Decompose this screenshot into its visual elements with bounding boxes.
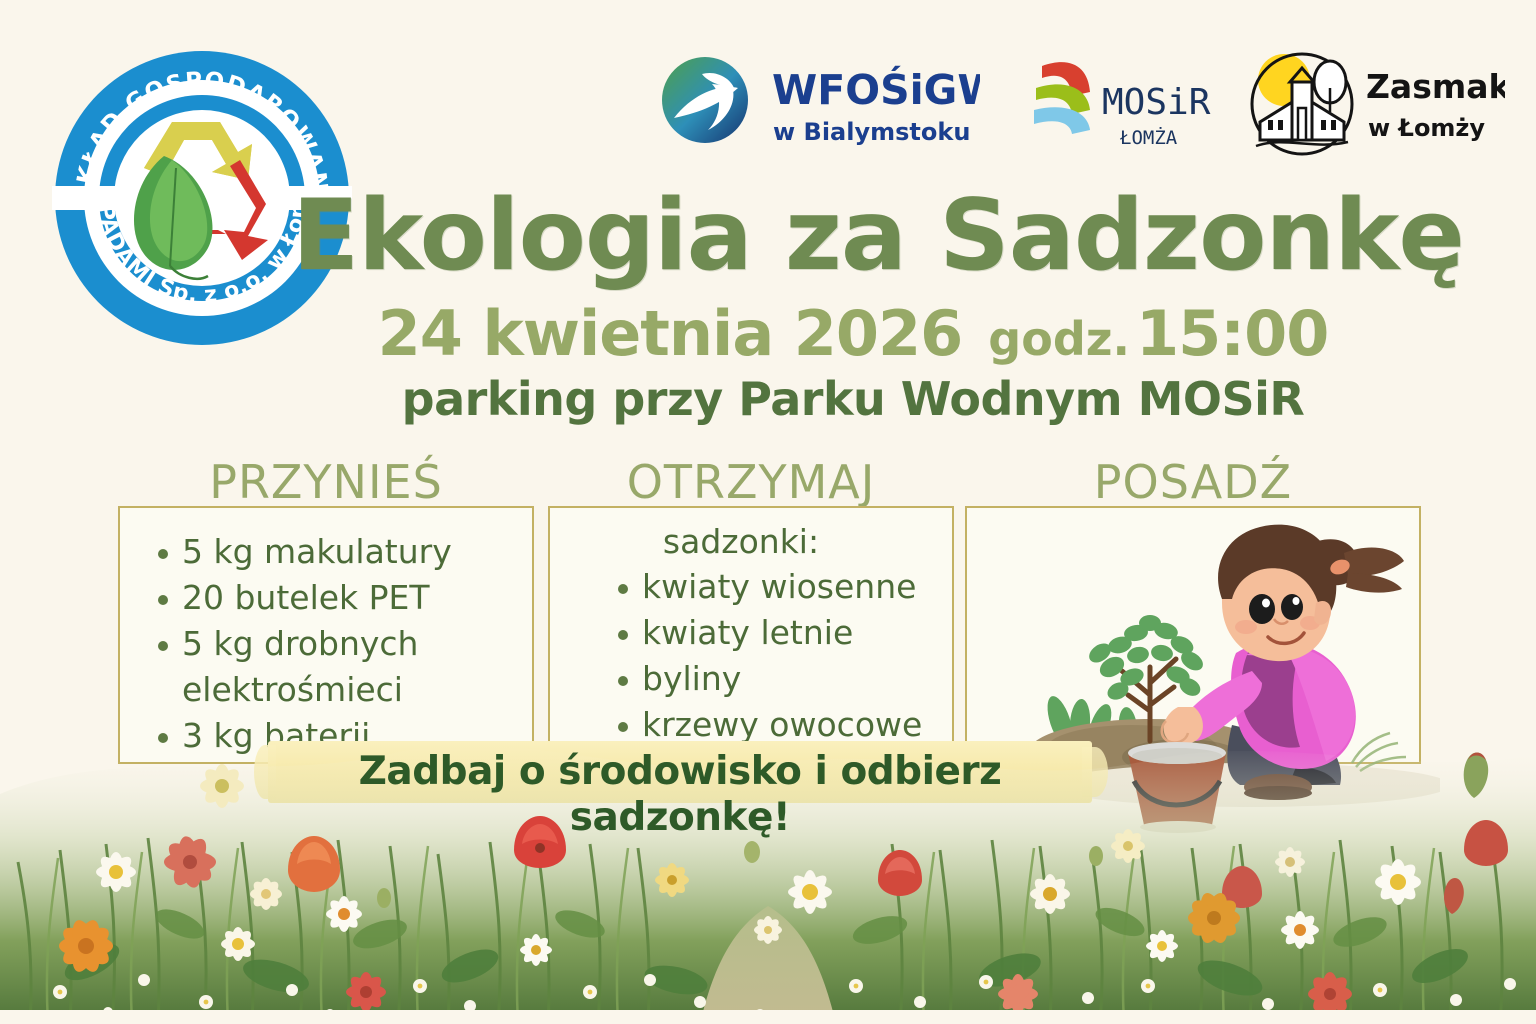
wfosigw-line1: WFOŚiGW bbox=[772, 66, 980, 114]
mosir-lomza-logo: MOSiR ŁOMŻA bbox=[1026, 48, 1216, 158]
list-item: 20 butelek PET bbox=[152, 576, 532, 620]
column-header-przynies: PRZYNIEŚ bbox=[118, 455, 534, 509]
otrzymaj-intro: sadzonki: bbox=[530, 522, 952, 561]
page-title: Ekologia za Sadzonkę bbox=[0, 185, 1536, 288]
panel-przynies: 5 kg makulatury 20 butelek PET 5 kg drob… bbox=[118, 506, 534, 764]
event-date: 24 kwietnia 2026 bbox=[378, 297, 963, 370]
zasmakuj-line1: Zasmakuj bbox=[1366, 67, 1505, 106]
list-item: kwiaty letnie bbox=[612, 611, 952, 655]
mosir-line2: ŁOMŻA bbox=[1119, 126, 1178, 149]
list-item: krzewy owocowe bbox=[612, 703, 952, 747]
list-item: elektrośmieci bbox=[152, 668, 532, 712]
column-header-otrzymaj: OTRZYMAJ bbox=[548, 455, 954, 509]
poster-canvas: ZAKŁAD GOSPODAROWANIA ODPADAMI Sp. z o.o… bbox=[0, 0, 1536, 1024]
cta-banner-text: Zadbaj o środowisko i odbierz sadzonkę! bbox=[268, 749, 1092, 841]
list-item: 5 kg drobnych bbox=[152, 622, 532, 666]
otrzymaj-list: kwiaty wiosenne kwiaty letnie byliny krz… bbox=[612, 565, 952, 747]
wfosigw-logo: WFOŚiGW w Bialymstoku bbox=[660, 52, 980, 157]
zasmakuj-line2: w Łomży bbox=[1368, 114, 1485, 142]
list-item: kwiaty wiosenne bbox=[612, 565, 952, 609]
time-label: godz. bbox=[988, 312, 1130, 366]
bottom-edge-strip bbox=[0, 1010, 1536, 1024]
panel-otrzymaj: sadzonki: kwiaty wiosenne kwiaty letnie … bbox=[548, 506, 954, 764]
przynies-list: 5 kg makulatury 20 butelek PET 5 kg drob… bbox=[152, 530, 532, 757]
list-item: byliny bbox=[612, 657, 952, 701]
event-place: parking przy Parku Wodnym MOSiR bbox=[0, 372, 1536, 426]
mosir-line1: MOSiR bbox=[1102, 82, 1211, 123]
zasmakuj-w-lomzy-logo: Zasmakuj w Łomży bbox=[1240, 42, 1505, 160]
wfosigw-line2: w Bialymstoku bbox=[773, 118, 970, 146]
list-item: 5 kg makulatury bbox=[152, 530, 532, 574]
event-date-line: 24 kwietnia 2026godz.15:00 bbox=[0, 300, 1536, 368]
event-time: 15:00 bbox=[1136, 297, 1328, 370]
